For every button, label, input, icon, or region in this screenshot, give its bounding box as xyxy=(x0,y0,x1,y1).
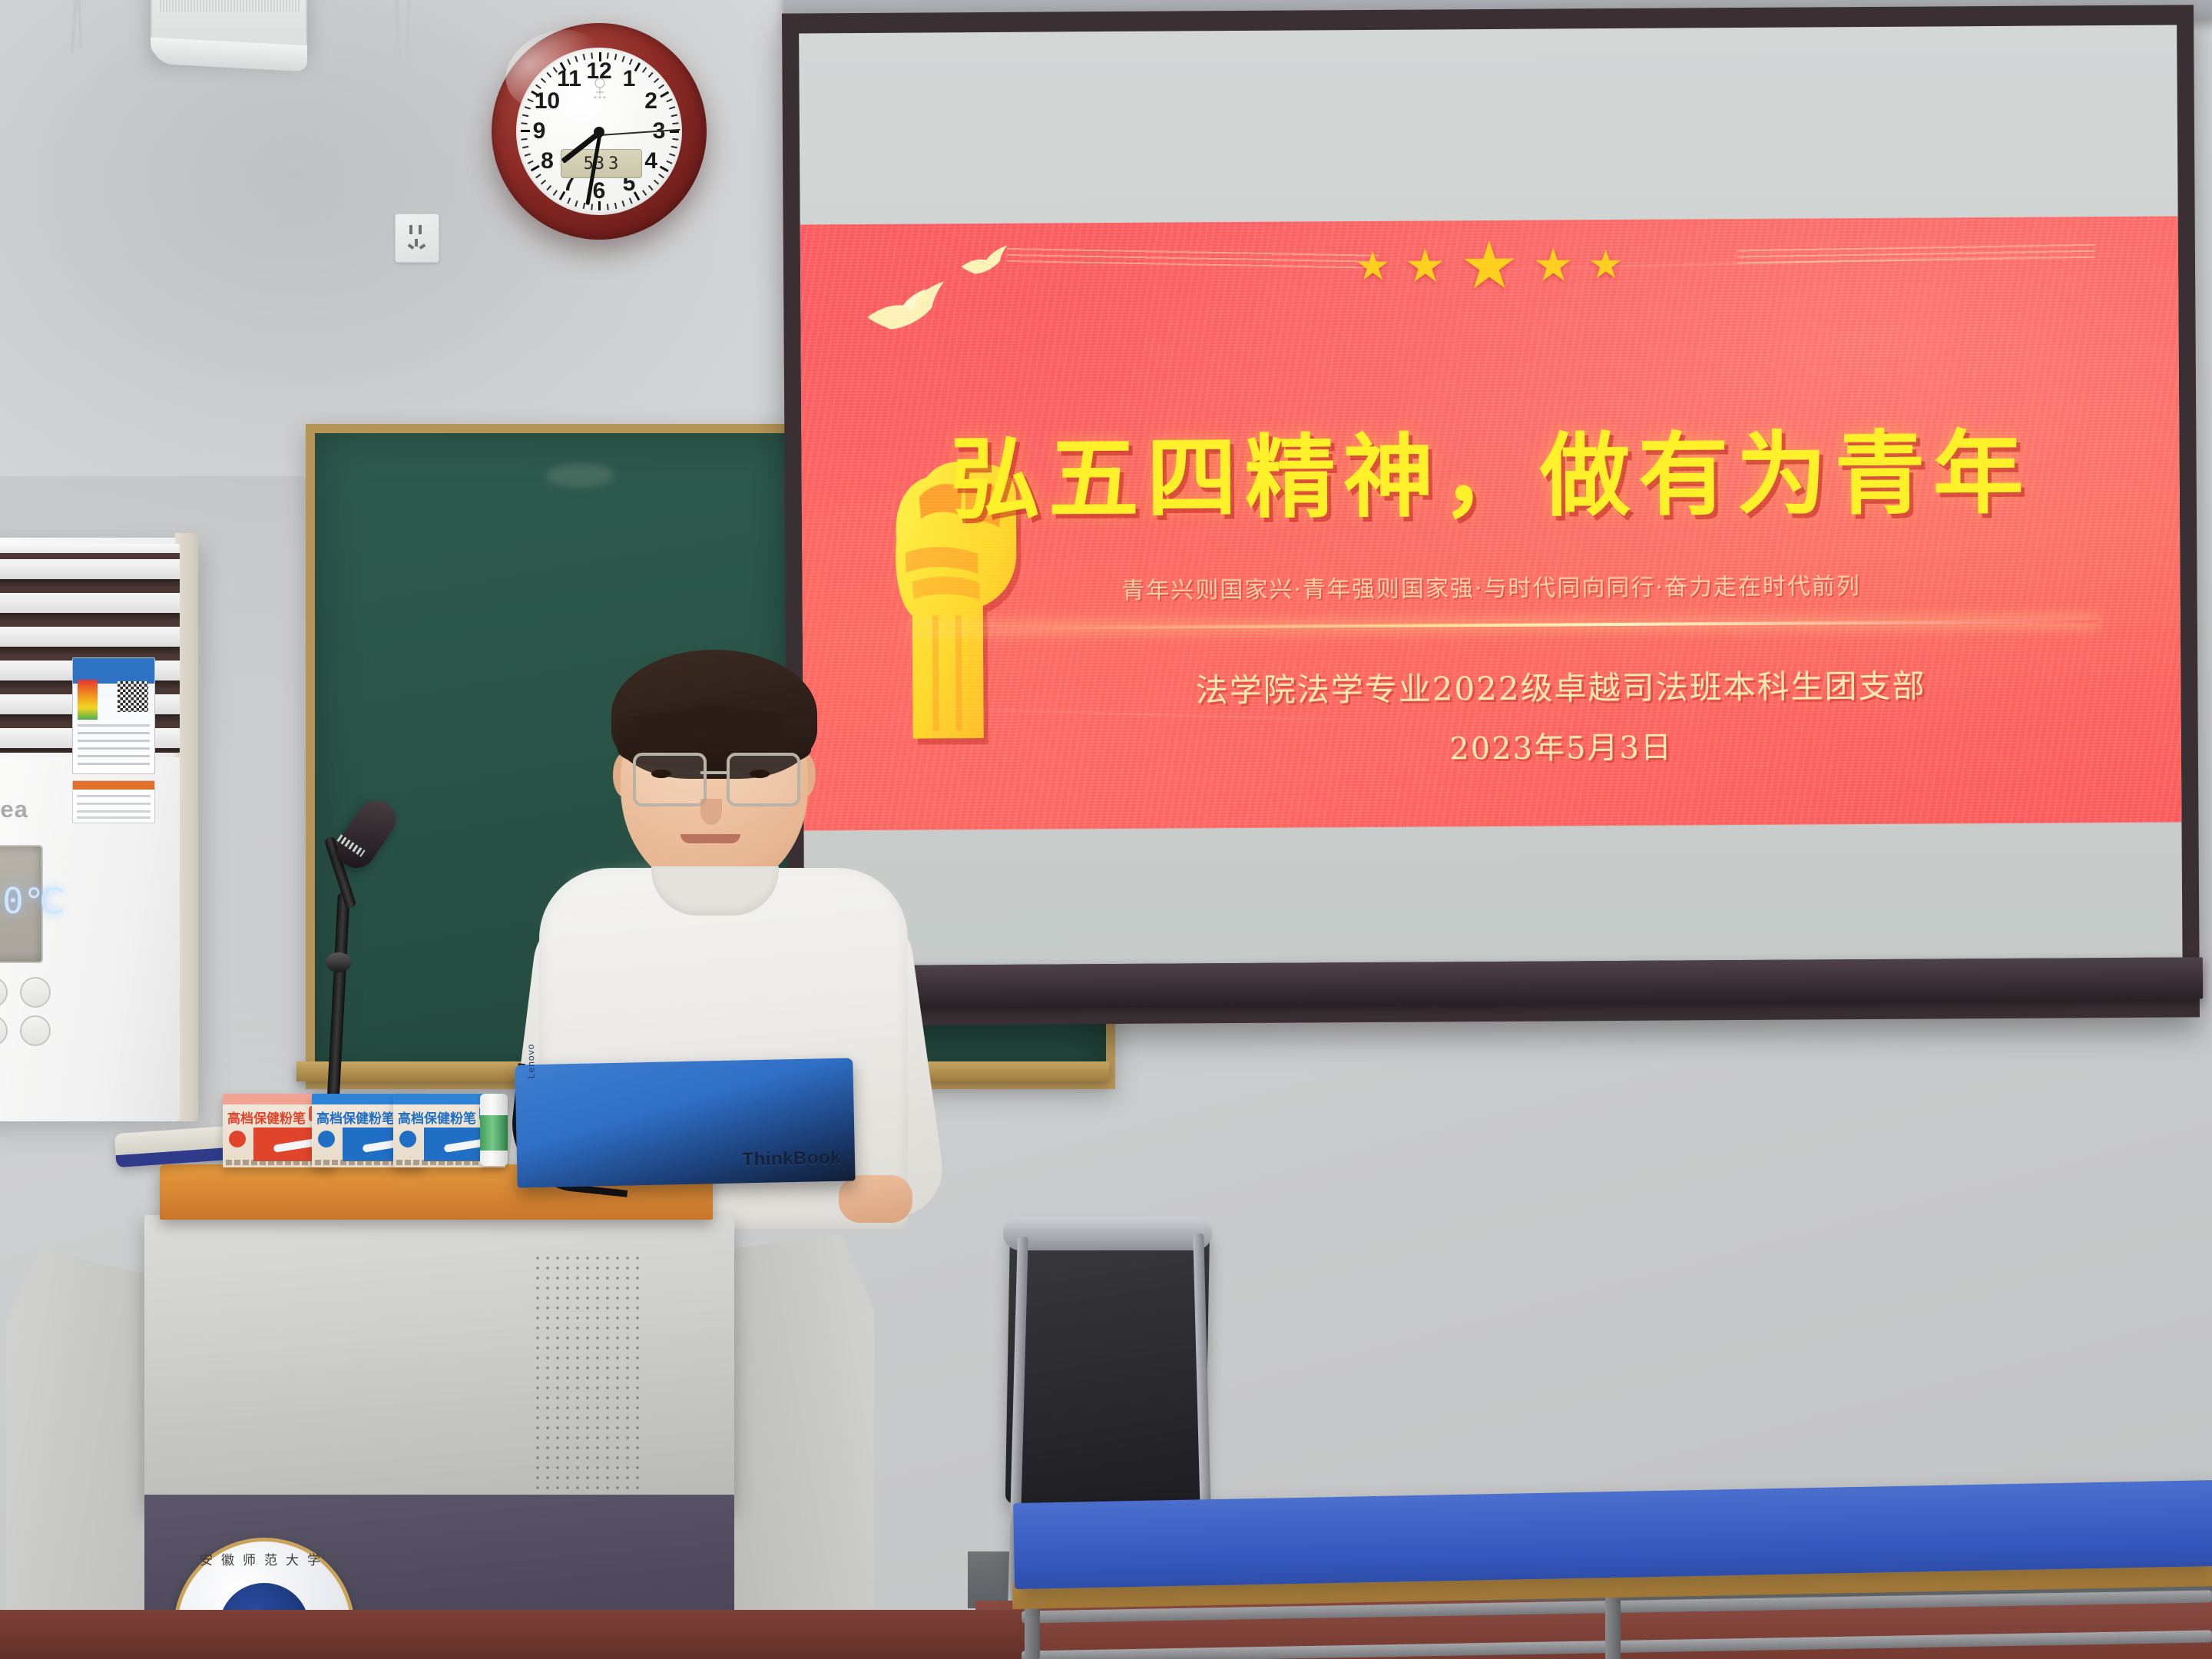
qr-code-icon xyxy=(118,681,148,712)
chalk-box-badge xyxy=(318,1131,335,1147)
ac-mode-button[interactable] xyxy=(20,977,51,1008)
eye xyxy=(651,770,671,778)
clock-tick xyxy=(522,146,528,149)
glue-stick[interactable] xyxy=(480,1094,508,1166)
slide-title: 弘五四精神，做有为青年 xyxy=(801,398,2180,538)
clock-tick xyxy=(671,114,677,118)
outlet-slot xyxy=(419,225,422,234)
slide-date: 2023年5月3日 xyxy=(996,720,2126,771)
ac-timer-button[interactable] xyxy=(20,1015,51,1046)
wall-speaker xyxy=(151,0,307,54)
clock-face: 121234567891011 53 3 xyxy=(516,48,682,215)
laptop-model-label: ThinkBook xyxy=(742,1147,841,1171)
speaker-grill xyxy=(158,0,300,12)
clock-tick xyxy=(521,130,530,132)
clock-tick xyxy=(642,67,647,73)
screen-surface: ★★★★★ xyxy=(799,25,2182,966)
clock-numeral: 6 xyxy=(593,180,606,203)
clock-tick xyxy=(567,197,571,204)
clock-tick xyxy=(614,203,618,209)
chalk-box-badge xyxy=(399,1131,416,1147)
lens xyxy=(727,753,800,806)
microphone-joint xyxy=(326,952,352,972)
energy-grade-bar xyxy=(78,680,98,720)
ac-temperature-value: 25.0℃ xyxy=(0,880,66,922)
clock-tick xyxy=(654,180,659,185)
clock-tick xyxy=(527,98,533,102)
clock-brand-icon xyxy=(587,75,613,101)
clock-numeral: 11 xyxy=(557,68,581,91)
ac-brand-label: Midea xyxy=(0,796,28,823)
clock-tick xyxy=(575,56,578,62)
lectern-speaker-grill xyxy=(536,1257,644,1510)
wall-clock: 121234567891011 53 3 xyxy=(492,23,707,240)
clock-tick xyxy=(658,174,664,178)
chalk-box-label: 高档保健粉笔 xyxy=(316,1108,395,1127)
ac-louver xyxy=(0,559,180,579)
clock-tick xyxy=(531,165,540,172)
clock-tick xyxy=(672,138,678,141)
ac-display-panel: 25.0℃ xyxy=(0,845,43,963)
clock-tick xyxy=(546,185,551,190)
folding-chair-back-rim xyxy=(1003,1217,1212,1250)
clock-tick xyxy=(527,161,533,164)
star-icon: ★ xyxy=(1532,242,1574,288)
presentation-slide: ★★★★★ xyxy=(800,216,2182,830)
ac-vent-cap xyxy=(0,544,180,553)
clock-tick xyxy=(591,204,593,210)
projector-screen: ★★★★★ xyxy=(782,5,2200,1025)
clock-second-hand xyxy=(600,129,680,136)
clock-numeral: 1 xyxy=(623,68,636,91)
chalk-box-label: 高档保健粉笔 xyxy=(398,1108,476,1127)
clock-tick xyxy=(614,54,618,60)
clock-numeral: 2 xyxy=(644,90,657,113)
glasses-bridge xyxy=(700,771,730,774)
outlet-slot xyxy=(419,243,426,250)
clock-tick xyxy=(522,114,528,118)
lens xyxy=(633,753,707,806)
clock-tick xyxy=(521,122,527,124)
clock-numeral: 9 xyxy=(533,120,546,143)
clock-tick xyxy=(654,78,659,83)
clock-tick xyxy=(629,197,633,204)
ac-warning-label xyxy=(72,780,155,823)
clock-tick xyxy=(541,78,546,83)
lectern-right-wing xyxy=(720,1233,874,1659)
clock-tick xyxy=(669,153,675,156)
chalk-box-badge xyxy=(229,1131,246,1147)
clock-tick xyxy=(660,91,669,98)
ac-energy-label xyxy=(72,657,155,774)
clock-tick xyxy=(607,204,609,210)
folding-chair-back[interactable] xyxy=(1005,1220,1210,1507)
clock-tick xyxy=(541,180,546,185)
outlet-slot xyxy=(409,225,412,234)
lectern-body xyxy=(144,1215,734,1507)
star-icon: ★ xyxy=(1355,247,1391,286)
clock-tick xyxy=(525,106,531,109)
lectern-left-wing xyxy=(6,1250,160,1659)
projector-screen-bottom-bar xyxy=(779,957,2203,1007)
clock-tick xyxy=(642,190,647,196)
clock-tick xyxy=(621,200,624,207)
clock-tick xyxy=(672,122,678,124)
clock-lcd-right: 3 xyxy=(608,154,619,174)
clock-tick xyxy=(669,106,675,109)
outlet-slot xyxy=(415,239,418,247)
clock-tick xyxy=(648,185,654,190)
floor-tiles xyxy=(0,1610,1029,1659)
clock-tick xyxy=(567,58,571,65)
clock-hub xyxy=(594,127,604,137)
five-stars: ★★★★★ xyxy=(800,228,2178,303)
clock-tick xyxy=(553,190,558,196)
laptop-brand-label: Lenovo xyxy=(525,1044,537,1079)
ac-louver xyxy=(0,593,180,613)
clock-tick xyxy=(648,72,654,78)
air-conditioner[interactable]: Midea 25.0℃ 强劲 xyxy=(0,538,197,1121)
ac-louver xyxy=(0,627,180,647)
clock-tick xyxy=(575,200,578,207)
chalk-box-label: 高档保健粉笔 xyxy=(227,1108,306,1127)
outlet-slot xyxy=(408,243,415,250)
clock-tick xyxy=(535,174,541,178)
clock-tick xyxy=(546,72,551,78)
clock-tick xyxy=(666,98,672,102)
star-icon: ★ xyxy=(1404,243,1445,289)
eye xyxy=(750,770,770,778)
clock-tick xyxy=(671,146,677,149)
clock-numeral: 10 xyxy=(535,90,560,113)
slide-organization: 法学院法学专业2022级卓越司法班本科生团支部 xyxy=(995,659,2125,713)
nose xyxy=(700,799,722,825)
power-outlet[interactable] xyxy=(395,214,439,263)
clock-tick xyxy=(660,166,669,173)
clock-tick xyxy=(583,54,586,60)
star-icon: ★ xyxy=(1459,233,1519,299)
laptop[interactable]: Lenovo ThinkBook xyxy=(515,1058,855,1187)
lectern: 安徽师范大学 ANHUI NORMAL UNIVERSITY 1928 xyxy=(6,1164,1012,1659)
clock-numeral: 8 xyxy=(541,150,554,173)
classroom-photo: 121234567891011 53 3 xyxy=(0,0,2212,1659)
chalk-smear xyxy=(545,464,614,487)
emblem-chinese-name: 安徽师范大学 xyxy=(177,1549,351,1568)
clock-numeral: 4 xyxy=(644,150,657,173)
clock-tick xyxy=(621,56,624,62)
clock-tick xyxy=(658,84,664,89)
mouth xyxy=(680,834,740,843)
clock-tick xyxy=(629,58,633,65)
clock-tick xyxy=(525,153,531,156)
clock-tick xyxy=(666,161,672,164)
clock-tick xyxy=(521,138,527,141)
